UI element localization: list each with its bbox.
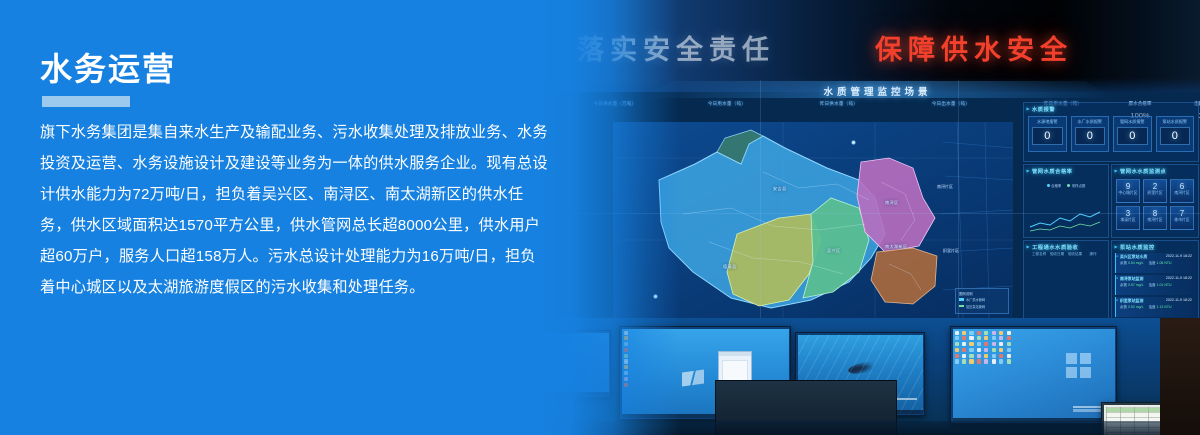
desktop-icon[interactable] xyxy=(977,342,981,346)
windows10-monitor-screen xyxy=(953,329,1115,422)
pump-timestamp: 2022-11-9 18:22 xyxy=(1166,254,1192,258)
map-district-label: 安吉县 xyxy=(773,186,786,192)
point-district: 织里片区 xyxy=(1144,191,1166,196)
desktop-icon[interactable] xyxy=(999,359,1003,363)
legend-swatch xyxy=(959,298,964,301)
alarm-panel: 水质报警 水源地报警 0 水厂水质报警 0 管网水质报警 0 xyxy=(1023,102,1199,162)
map-district-label: 南浔区 xyxy=(885,200,898,206)
alarm-card-label: 管网水质报警 xyxy=(1114,119,1151,125)
monitor-points-grid: 9 中心城片区 2 织里片区 6 南浔片区 3 埭溪片区 xyxy=(1112,175,1198,234)
metric-value: 1.01 NTU xyxy=(1157,283,1172,287)
desktop-icon[interactable] xyxy=(969,354,973,358)
point-count: 2 xyxy=(1144,182,1166,191)
dialog-titlebar xyxy=(719,352,751,356)
desktop-icon[interactable] xyxy=(999,348,1003,352)
desktop-icon[interactable] xyxy=(1007,348,1011,352)
map-district-label: 德清县 xyxy=(723,264,736,270)
quality-rate-legend: 合格率 采样点数 xyxy=(1024,183,1108,188)
acceptance-table-header: 工程名称 验收日期 验收结果 操作 xyxy=(1024,251,1108,257)
metric-value: 0.57 mg/L xyxy=(1128,283,1144,287)
desktop-icon[interactable] xyxy=(999,342,1003,346)
desktop-icon[interactable] xyxy=(984,342,988,346)
alarm-card-grid: 水源地报警 0 水厂水质报警 0 管网水质报警 0 泵站水质报警 0 xyxy=(1024,113,1198,152)
windows-logo-icon xyxy=(1066,353,1092,379)
map-district-label: 南太湖新区 xyxy=(885,244,907,250)
desktop-icon[interactable] xyxy=(969,331,973,335)
desktop-icon[interactable] xyxy=(999,331,1003,335)
pump-timestamp: 2022-11-9 18:22 xyxy=(1166,276,1192,280)
pump-metrics: 余氯 0.57 mg/L 浊度 1.01 NTU xyxy=(1116,282,1195,289)
quality-rate-title: 管网水质合格率 xyxy=(1024,165,1108,175)
desktop-icon[interactable] xyxy=(962,336,966,340)
map-legend-row: 加压泵站管网 xyxy=(959,304,1008,309)
metric-value: 0.52 mg/L xyxy=(1128,305,1144,309)
metric-value: 0.54 mg/L xyxy=(1128,261,1144,265)
legend-entry: 采样点数 xyxy=(1067,183,1085,188)
desktop-icon[interactable] xyxy=(955,336,959,340)
metric-value: 1.06 NTU xyxy=(1157,261,1172,265)
desktop-icon[interactable] xyxy=(955,359,959,363)
map-legend: 图例说明 水厂供水管网 加压泵站管网 xyxy=(955,288,1009,314)
point-district: 练市片区 xyxy=(1171,218,1193,223)
desktop-icon[interactable] xyxy=(1007,342,1011,346)
wall-slogan-right: 保障供水安全 xyxy=(875,28,1073,67)
room-right-wall xyxy=(1160,318,1200,435)
desktop-icon[interactable] xyxy=(977,359,981,363)
monitor-point-cell[interactable]: 6 南浔片区 xyxy=(1170,179,1194,203)
monitor-points-panel: 管网水水质监测点 9 中心城片区 2 织里片区 6 南浔片区 xyxy=(1111,164,1199,238)
desktop-icon[interactable] xyxy=(977,336,981,340)
pump-metric: 浊度 1.01 NTU xyxy=(1149,283,1172,288)
kpi-label: 今日出水量（吨） xyxy=(895,101,1007,107)
alarm-card-label: 泵站水质报警 xyxy=(1157,119,1194,125)
metric-label: 浊度 xyxy=(1149,261,1156,265)
kpi-label: 昨日供水量（吨） xyxy=(783,101,895,107)
desktop-icon[interactable] xyxy=(955,348,959,352)
pump-metrics: 余氯 0.52 mg/L 浊度 1.13 NTU xyxy=(1116,304,1195,311)
map-pin-label: 南浔片区 xyxy=(937,184,953,190)
point-district: 南浔片区 xyxy=(1144,218,1166,223)
point-district: 中心城片区 xyxy=(1117,191,1139,196)
legend-swatch xyxy=(959,305,964,308)
map-district-label: 吴兴区 xyxy=(827,248,840,254)
pump-metric: 浊度 1.13 NTU xyxy=(1149,305,1172,310)
desktop-icon[interactable] xyxy=(992,348,996,352)
video-wall-seam xyxy=(958,80,959,322)
text-content: 水务运营 旗下水务集团是集自来水生产及输配业务、污水收集处理及排放业务、水务投资… xyxy=(0,0,600,435)
desktop-icon[interactable] xyxy=(999,354,1003,358)
desktop-icon[interactable] xyxy=(1007,359,1011,363)
desktop-icon[interactable] xyxy=(969,342,973,346)
desktop-icon[interactable] xyxy=(992,342,996,346)
point-count: 9 xyxy=(1117,182,1139,191)
acceptance-title: 工程通水水质验收 xyxy=(1024,241,1108,251)
point-count: 6 xyxy=(1171,182,1193,191)
desktop-icon[interactable] xyxy=(984,359,988,363)
desktop-icon[interactable] xyxy=(969,336,973,340)
legend-dot xyxy=(1067,184,1070,187)
desktop-icon[interactable] xyxy=(984,348,988,352)
quality-rate-panel: 管网水质合格率 合格率 采样点数 xyxy=(1023,164,1109,238)
dialog-body xyxy=(722,360,748,382)
alarm-panel-title: 水质报警 xyxy=(1024,103,1198,113)
desktop-icon[interactable] xyxy=(992,354,996,358)
pump-metric: 余氯 0.54 mg/L xyxy=(1120,261,1144,266)
monitor-point-cell[interactable]: 2 织里片区 xyxy=(1143,179,1167,203)
point-district: 埭溪片区 xyxy=(1117,218,1139,223)
monitor-point-cell[interactable]: 3 埭溪片区 xyxy=(1116,206,1140,230)
metric-label: 余氯 xyxy=(1120,283,1127,287)
desktop-icon[interactable] xyxy=(1007,354,1011,358)
legend-label: 水厂供水管网 xyxy=(966,297,985,302)
quality-rate-chart xyxy=(1028,205,1104,235)
acceptance-panel: 工程通水水质验收 工程名称 验收日期 验收结果 操作 xyxy=(1023,240,1109,320)
alarm-card: 水厂水质报警 0 xyxy=(1071,116,1110,152)
alarm-card-label: 水厂水质报警 xyxy=(1072,119,1109,125)
pump-metric: 余氯 0.57 mg/L xyxy=(1120,283,1144,288)
col-header: 验收日期 xyxy=(1048,252,1066,257)
pump-metrics: 余氯 0.54 mg/L 浊度 1.06 NTU xyxy=(1116,260,1195,267)
desktop-icon[interactable] xyxy=(984,354,988,358)
alarm-card-value: 0 xyxy=(1075,127,1106,145)
monitor-point-cell[interactable]: 9 中心城片区 xyxy=(1116,179,1140,203)
metric-value: 1.13 NTU xyxy=(1157,305,1172,309)
desktop-icon[interactable] xyxy=(992,359,996,363)
map-glow-dot xyxy=(851,140,856,145)
kpi-label: 今日用水量（吨） xyxy=(671,101,783,107)
alarm-card-label: 水源地报警 xyxy=(1029,119,1066,125)
col-header: 工程名称 xyxy=(1030,252,1048,257)
desktop-icon[interactable] xyxy=(955,342,959,346)
point-district: 南浔片区 xyxy=(1171,191,1193,196)
pump-monitor-row[interactable]: 织里泵站监测 2022-11-9 18:22 余氯 0.52 mg/L 浊度 1… xyxy=(1115,297,1195,317)
alarm-card: 泵站水质报警 0 xyxy=(1156,116,1195,152)
alarm-card: 水源地报警 0 xyxy=(1028,116,1067,152)
legend-label: 加压泵站管网 xyxy=(966,304,985,309)
desktop-icon[interactable] xyxy=(969,359,973,363)
metric-label: 浊度 xyxy=(1149,283,1156,287)
legend-label: 合格率 xyxy=(1051,183,1061,188)
page-title: 水务运营 xyxy=(40,53,176,85)
map-legend-row: 水厂供水管网 xyxy=(959,297,1008,302)
map-pin-label: 织里片区 xyxy=(943,248,959,254)
pump-metric: 浊度 1.06 NTU xyxy=(1149,261,1172,266)
water-operations-banner: 落实安全责任 保障供水安全 水质管理监控场景 今日供水量（万吨） 今日用水量（吨… xyxy=(0,0,1200,435)
windows-flag-icon xyxy=(682,369,704,386)
alarm-card-value: 0 xyxy=(1160,127,1191,145)
alarm-card-value: 0 xyxy=(1117,127,1148,145)
monitor-point-cell[interactable]: 8 南浔片区 xyxy=(1143,206,1167,230)
metric-label: 浊度 xyxy=(1149,305,1156,309)
pump-monitor-row[interactable]: 南浔泵站监测 2022-11-9 18:22 余氯 0.57 mg/L 浊度 1… xyxy=(1115,275,1195,295)
desktop-icon[interactable] xyxy=(962,359,966,363)
alarm-card: 管网水质报警 0 xyxy=(1113,116,1152,152)
desktop-icon[interactable] xyxy=(955,354,959,358)
desktop-icon[interactable] xyxy=(992,336,996,340)
desktop-icon[interactable] xyxy=(984,331,988,335)
desktop-icon[interactable] xyxy=(984,336,988,340)
title-underline-rule xyxy=(42,96,130,107)
desktop-icon[interactable] xyxy=(1007,336,1011,340)
pump-timestamp: 2022-11-9 18:22 xyxy=(1166,298,1192,302)
desktop-icon[interactable] xyxy=(992,331,996,335)
pump-monitor-title: 泵站水质监控 xyxy=(1112,241,1198,251)
desktop-icon[interactable] xyxy=(977,348,981,352)
legend-dot xyxy=(1047,184,1050,187)
desktop-icon[interactable] xyxy=(969,348,973,352)
metric-label: 余氯 xyxy=(1120,305,1127,309)
desktop-icon[interactable] xyxy=(962,348,966,352)
pump-monitor-row[interactable]: 吴兴区泵站水质 2022-11-9 18:22 余氯 0.54 mg/L 浊度 … xyxy=(1115,253,1195,273)
monitor-point-cell[interactable]: 7 练市片区 xyxy=(1170,206,1194,230)
col-header: 操作 xyxy=(1084,252,1102,257)
legend-entry: 合格率 xyxy=(1047,183,1062,188)
video-wall-seam xyxy=(760,80,761,322)
pump-metric: 余氯 0.52 mg/L xyxy=(1120,305,1144,310)
map-legend-title: 图例说明 xyxy=(959,291,1008,296)
desktop-icon[interactable] xyxy=(962,354,966,358)
body-paragraph: 旗下水务集团是集自来水生产及输配业务、污水收集处理及排放业务、水务投资及运营、水… xyxy=(40,117,550,303)
legend-label: 采样点数 xyxy=(1072,183,1086,188)
desktop-icon-grid xyxy=(955,331,1013,364)
col-header: 验收结果 xyxy=(1066,252,1084,257)
desktop-icon[interactable] xyxy=(962,342,966,346)
pump-monitor-panel: 泵站水质监控 吴兴区泵站水质 2022-11-9 18:22 余氯 0.54 m… xyxy=(1111,240,1199,320)
monitor-points-title: 管网水水质监测点 xyxy=(1112,165,1198,175)
windows10-monitor xyxy=(950,326,1117,424)
desktop-icon[interactable] xyxy=(955,331,959,335)
desktop-icon[interactable] xyxy=(1007,331,1011,335)
desktop-icon[interactable] xyxy=(999,336,1003,340)
desktop-icon[interactable] xyxy=(962,331,966,335)
desktop-icon[interactable] xyxy=(977,354,981,358)
alarm-card-value: 0 xyxy=(1032,127,1063,145)
metric-label: 余氯 xyxy=(1120,261,1127,265)
desktop-icon[interactable] xyxy=(977,331,981,335)
